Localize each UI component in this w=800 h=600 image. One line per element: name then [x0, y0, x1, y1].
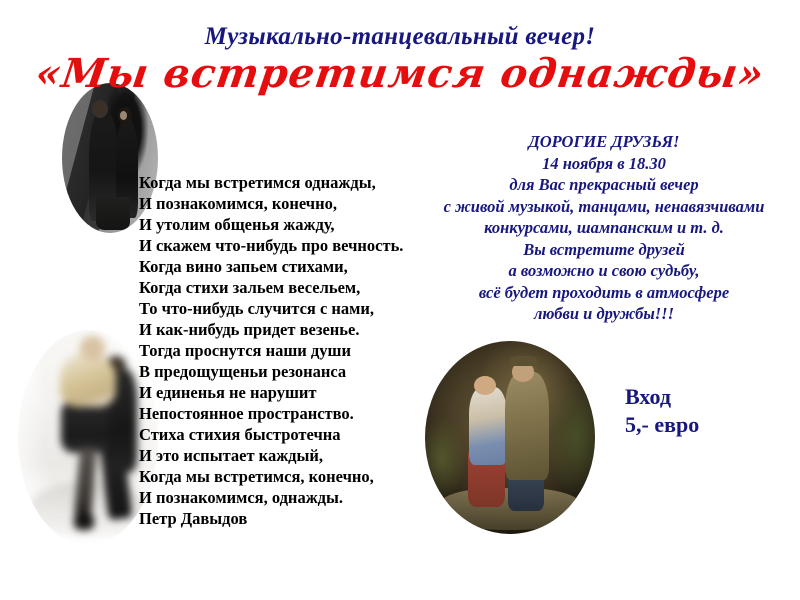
figure-legs [96, 197, 131, 230]
poem-line: И скажем что-нибудь про вечность. [139, 235, 403, 256]
poem-author: Петр Давыдов [139, 508, 403, 529]
announcement-line: ДОРОГИЕ ДРУЗЬЯ! [408, 131, 800, 153]
poem-line: И единенья не нарушит [139, 382, 403, 403]
poem-line: Тогда проснутся наши души [139, 340, 403, 361]
photo-dancers-blur [18, 330, 158, 545]
poem-line: И познакомимся, однажды. [139, 487, 403, 508]
painting-man-hat [510, 356, 537, 366]
poem-line: И как-нибудь придет везенье. [139, 319, 403, 340]
poem-line: То что-нибудь случится с нами, [139, 298, 403, 319]
announcement-line: всё будет проходить в атмосфере [408, 282, 800, 304]
figure-man-head [92, 100, 108, 118]
poem-line: В предощущеньи резонанса [139, 361, 403, 382]
page-subtitle-script: «Мы встретимся однажды» [0, 52, 800, 97]
poem-line: И это испытает каждый, [139, 445, 403, 466]
poem-line: Непостоянное пространство. [139, 403, 403, 424]
announcement-line: 14 ноября в 18.30 [408, 153, 800, 175]
announcement-line: Вы встретите друзей [408, 239, 800, 261]
photo-painting [425, 341, 595, 534]
figure-woman-face [120, 111, 128, 120]
painting-foliage-right [547, 383, 595, 491]
price-label: Вход [625, 383, 699, 411]
dancer-woman-skirt [61, 401, 109, 453]
announcement-line: а возможно и свою судьбу, [408, 260, 800, 282]
painting-man-body [505, 372, 549, 480]
painting-woman-body [469, 387, 506, 464]
poem-line: Когда мы встретимся, конечно, [139, 466, 403, 487]
announcement-text: ДОРОГИЕ ДРУЗЬЯ! 14 ноября в 18.30 для Ва… [408, 131, 800, 325]
blur-layer [18, 330, 158, 545]
poem-line: И утолим общенья жажду, [139, 214, 403, 235]
price-block: Вход 5,- евро [625, 383, 699, 439]
dancer-woman-shoe [74, 513, 94, 530]
announcement-line: для Вас прекрасный вечер [408, 174, 800, 196]
announcement-line: любви и дружбы!!! [408, 303, 800, 325]
poem-line: И познакомимся, конечно, [139, 193, 403, 214]
painting-foliage-left [425, 418, 466, 499]
poem-text: Когда мы встретимся однажды, И познакоми… [139, 172, 403, 529]
dancer-woman-head [80, 336, 105, 360]
price-amount: 5,- евро [625, 411, 699, 439]
announcement-line: конкурсами, шампанским и т. д. [408, 217, 800, 239]
poem-line: Когда мы встретимся однажды, [139, 172, 403, 193]
dancer-woman-top [60, 352, 116, 408]
announcement-line: с живой музыкой, танцами, ненавязчивами [408, 196, 800, 218]
headline-block: Музыкально-танцевальный вечер! «Мы встре… [0, 24, 800, 97]
poem-line: Когда вино запьем стихами, [139, 256, 403, 277]
poem-line: Стиха стихия быстротечна [139, 424, 403, 445]
poem-line: Когда стихи зальем весельем, [139, 277, 403, 298]
poster-canvas: Музыкально-танцевальный вечер! «Мы встре… [0, 0, 800, 600]
page-title: Музыкально-танцевальный вечер! [0, 24, 800, 50]
